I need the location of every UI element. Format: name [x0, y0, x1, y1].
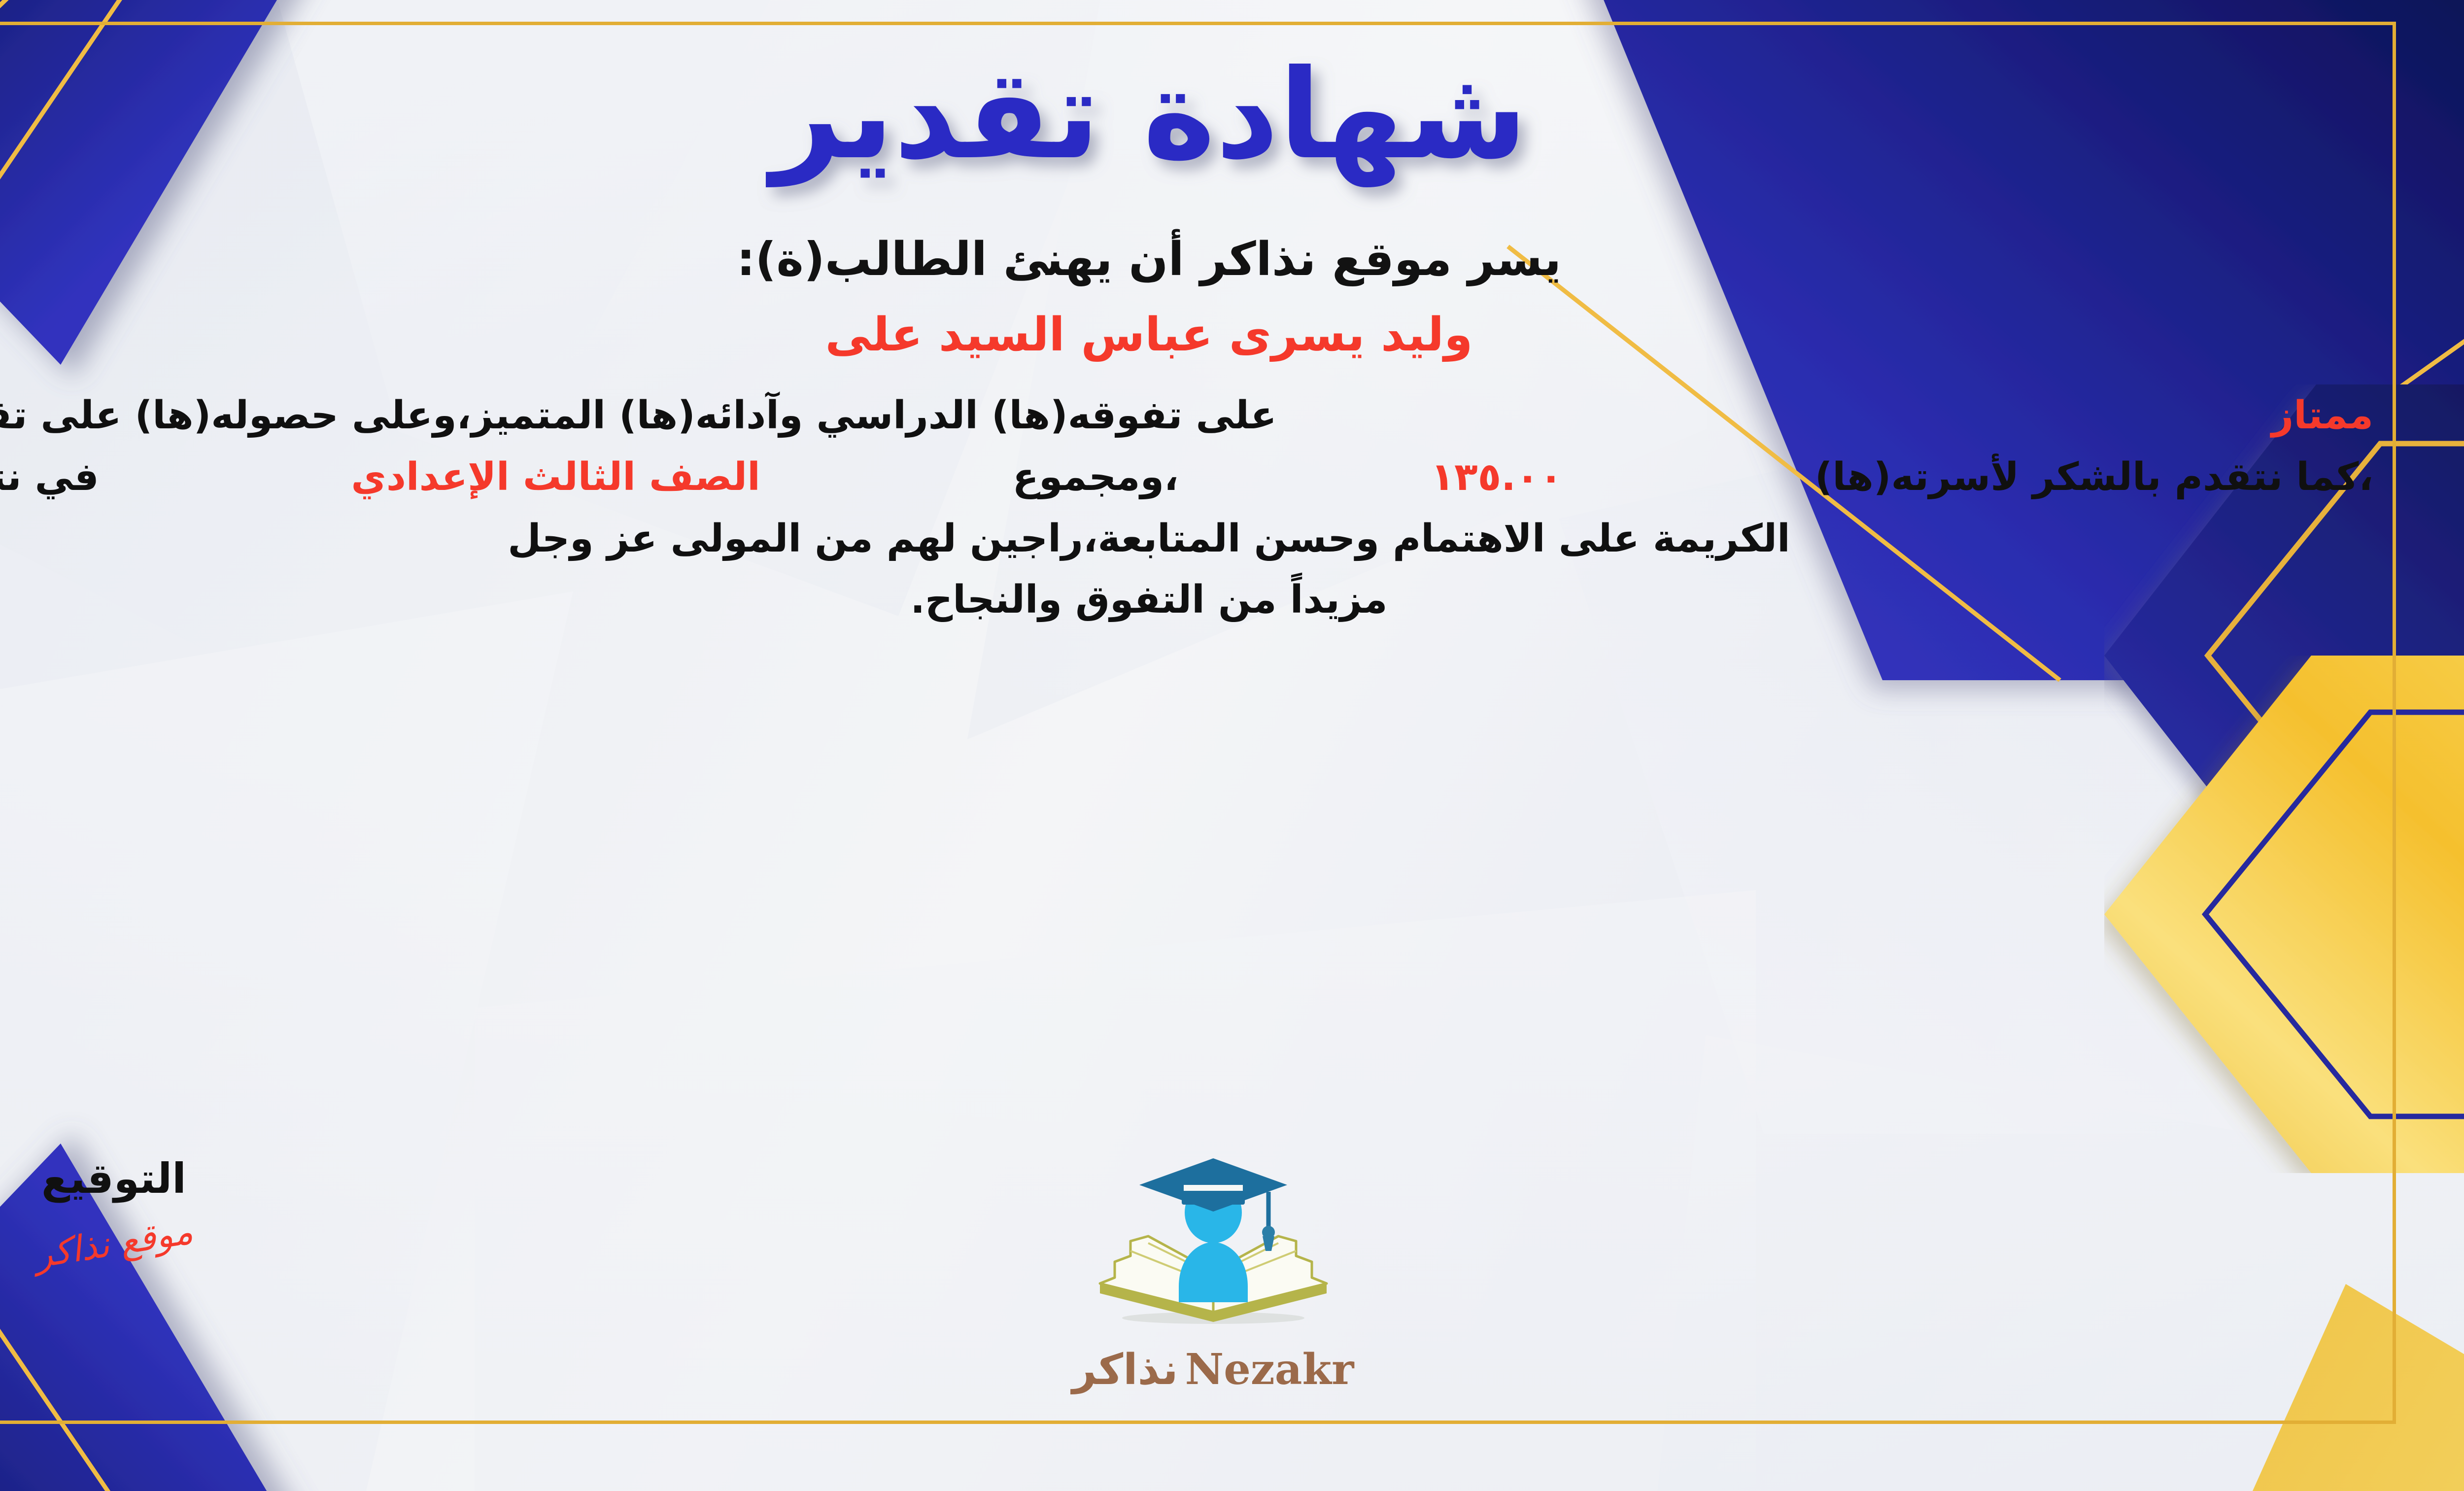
body-p1-main: على تفوقه(ها) الدراسي وآدائه(ها) المتميز…: [0, 388, 1277, 443]
score-value: ١٣٥.٠٠: [1431, 450, 1563, 505]
title-calligraphy: شهادة تقدير: [765, 43, 1527, 188]
site-logo: Nezakr نذاكر: [992, 1154, 1435, 1394]
body-paragraph-3: الكريمة على الاهتمام وحسن المتابعة،راجين…: [0, 512, 2373, 566]
grade-stage: الصف الثالث الإعدادي: [351, 450, 760, 505]
body-p2-tail: ،كما نتقدم بالشكر لأسرته(ها): [1815, 450, 2373, 505]
certificate-footer: التوقيع موقع نذاكر: [0, 1154, 2396, 1424]
body-paragraph-1: ممتاز على تفوقه(ها) الدراسي وآدائه(ها) ا…: [0, 388, 2373, 443]
logo-name-arabic: نذاكر: [1072, 1345, 1178, 1394]
logo-wordmark: Nezakr نذاكر: [1072, 1345, 1354, 1394]
student-name: وليد يسرى عباس السيد على: [825, 308, 1473, 362]
body-p2-total-label: ،ومجموع: [1013, 450, 1179, 505]
signature-label: التوقيع: [41, 1154, 186, 1203]
certificate-page: شهادة تقدير يسر موقع نذاكر أن يهنئ الطال…: [0, 0, 2464, 1491]
greeting-line: يسر موقع نذاكر أن يهنئ الطالب(ة):: [737, 233, 1561, 286]
logo-name-latin: Nezakr: [1185, 1345, 1354, 1394]
grade-value: ممتاز: [2271, 388, 2373, 443]
graduate-open-book-icon: [1085, 1154, 1341, 1342]
signature-block: التوقيع موقع نذاكر: [0, 1154, 267, 1264]
certificate-body: ممتاز على تفوقه(ها) الدراسي وآدائه(ها) ا…: [0, 388, 2396, 627]
certificate-title: شهادة تقدير: [0, 41, 2396, 204]
body-paragraph-2: ،كما نتقدم بالشكر لأسرته(ها) ١٣٥.٠٠ ،ومج…: [0, 450, 2373, 505]
body-p2-result-label: في نتيجة: [0, 450, 99, 505]
signature-mark: موقع نذاكر: [32, 1210, 196, 1276]
body-paragraph-4: مزيداً من التفوق والنجاح.: [0, 573, 2373, 627]
certificate-content: شهادة تقدير يسر موقع نذاكر أن يهنئ الطال…: [0, 22, 2396, 1424]
